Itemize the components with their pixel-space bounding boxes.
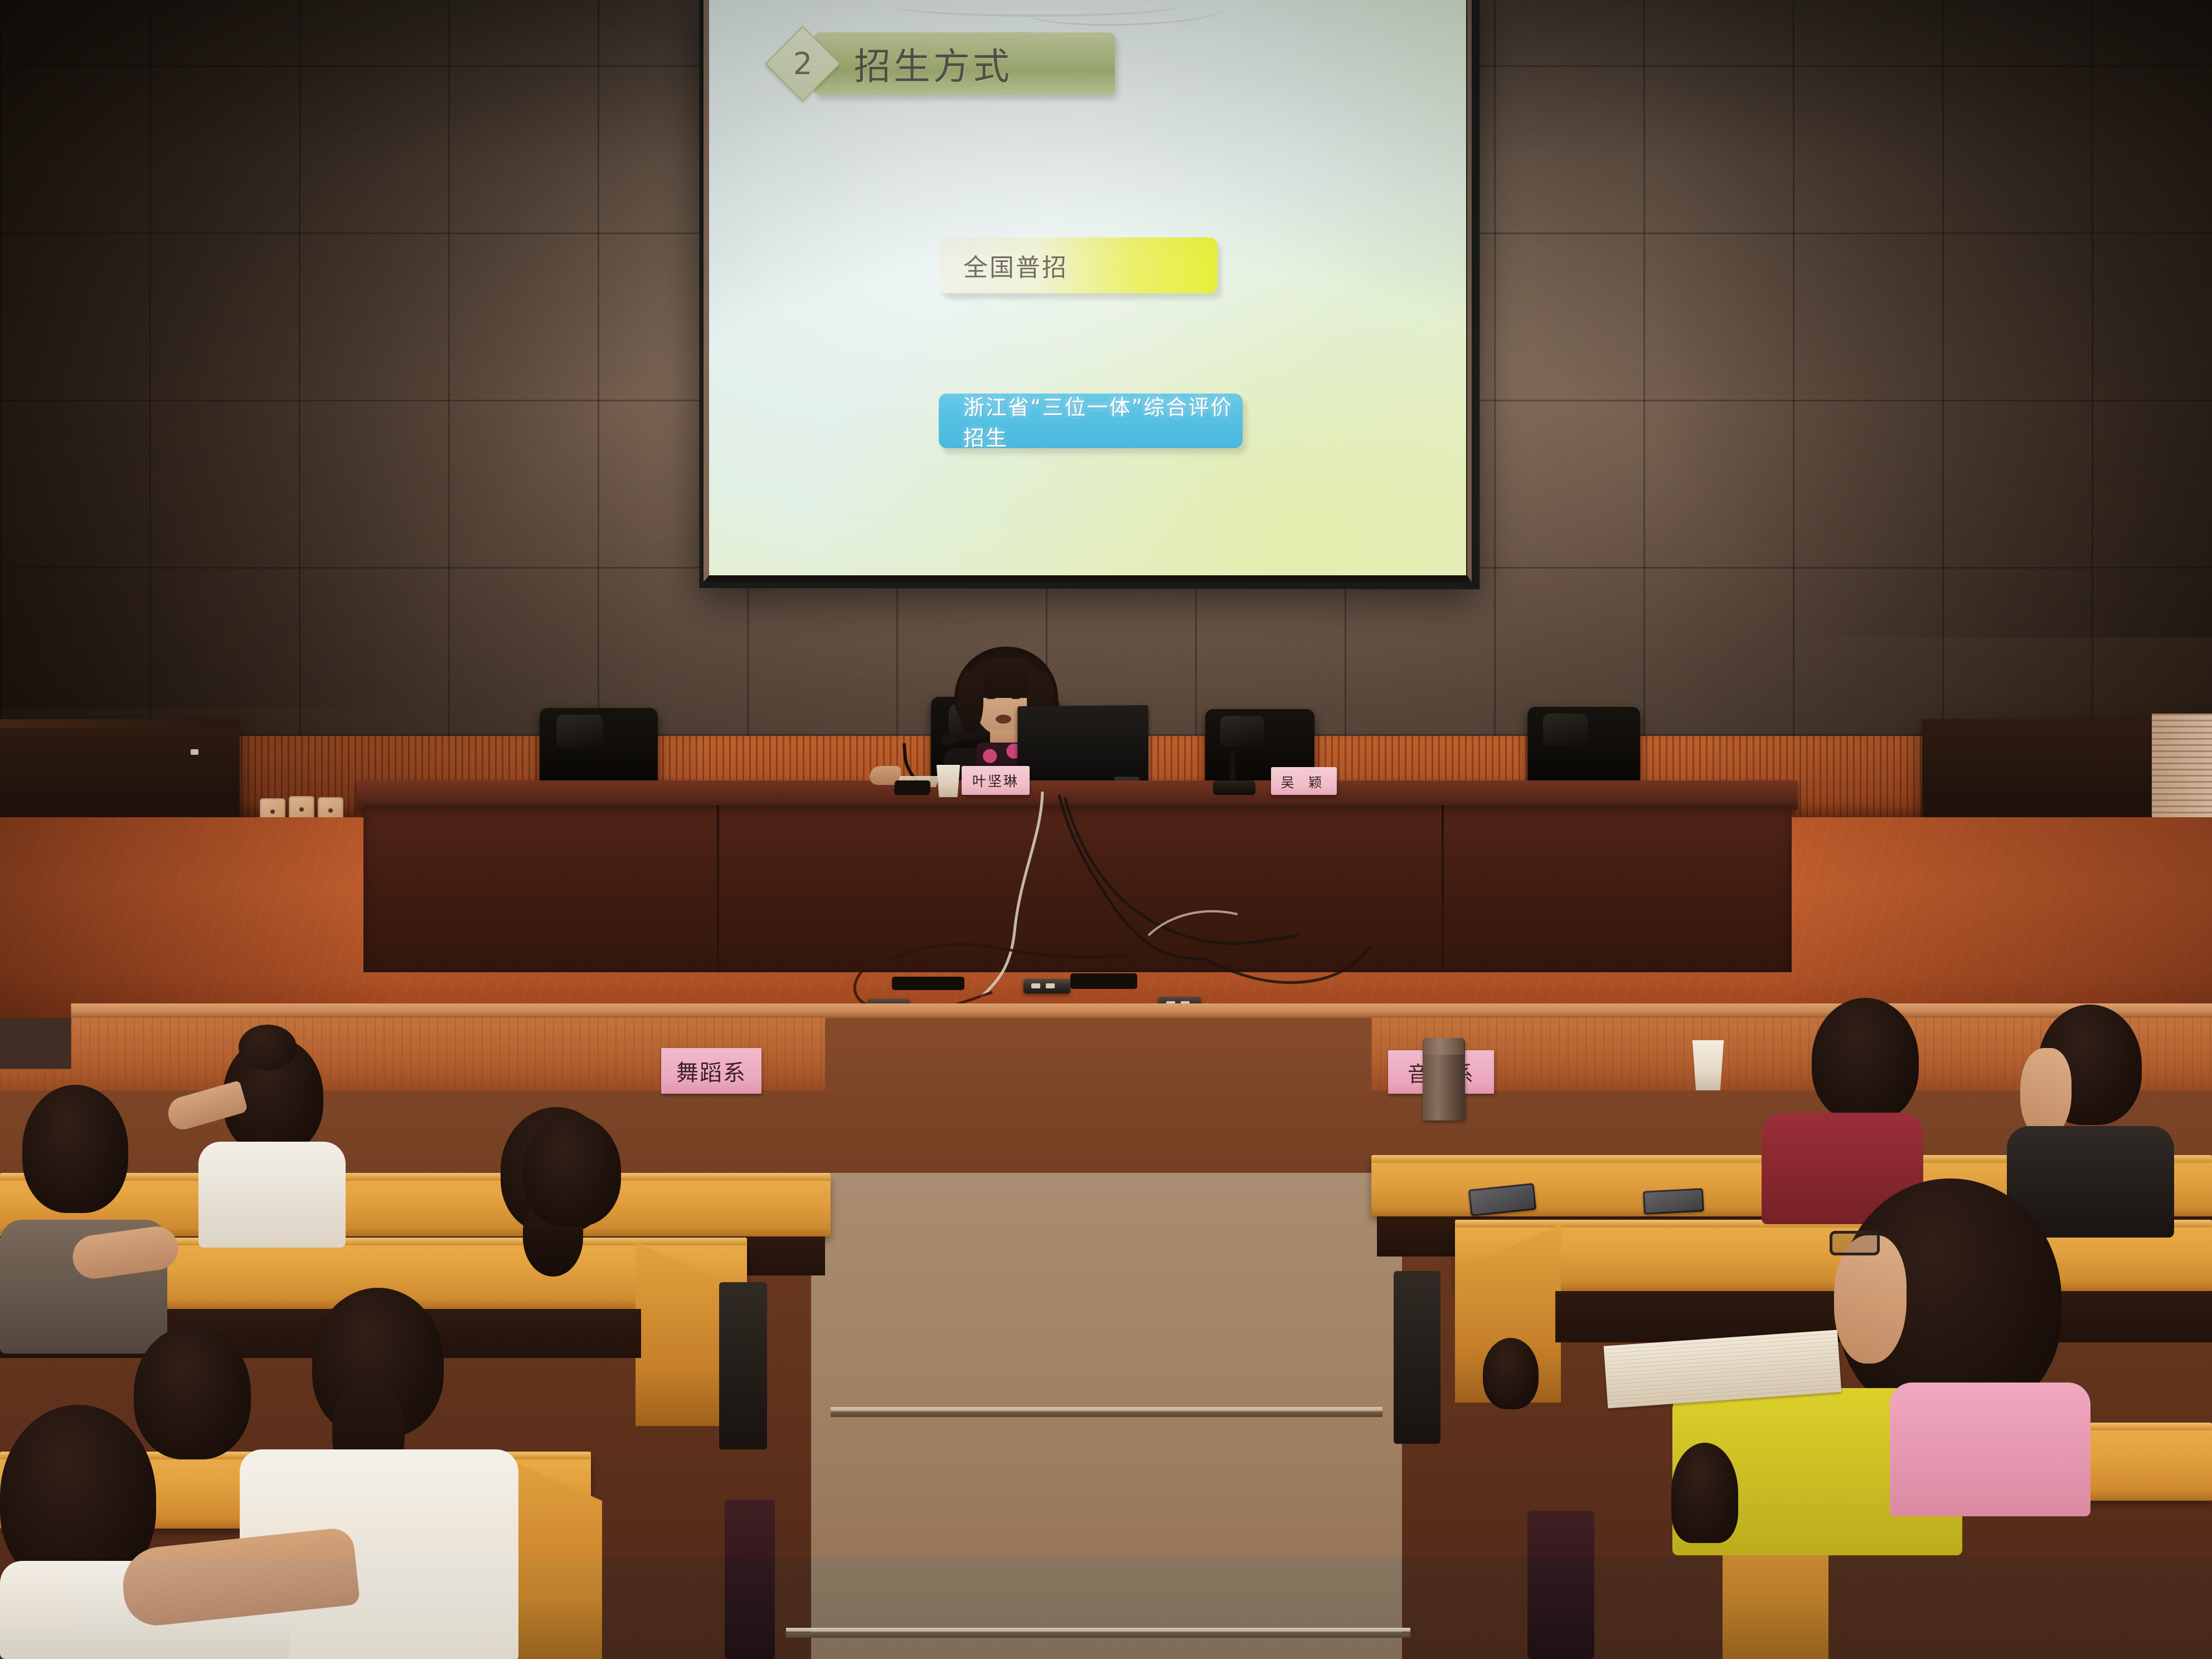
aisle-step-edge-2 (786, 1632, 1410, 1638)
audience-paper-cup (1690, 1040, 1726, 1090)
glasses-icon (1830, 1231, 1880, 1255)
table-panel-seam-1 (717, 805, 719, 972)
speaker-hair-left (959, 671, 983, 733)
student-body-l1 (198, 1142, 346, 1248)
aisle-step-nosing-2 (786, 1628, 1410, 1632)
student-body-r4b (1890, 1382, 2090, 1516)
student-head-l7 (134, 1326, 251, 1459)
nameplate-speaker: 叶坚琳 (962, 766, 1030, 795)
stage-chair-3[interactable] (1527, 707, 1640, 792)
cabinet-indicator-left (191, 749, 198, 755)
floor-adapter-1 (892, 977, 964, 990)
student-head-l5 (523, 1115, 621, 1226)
thermos-flask (1423, 1038, 1465, 1120)
nameplate-second: 吴 颖 (1271, 767, 1337, 795)
aisle-step-nosing-1 (831, 1407, 1382, 1411)
speaker-mouth (996, 715, 1011, 724)
aisle-seat-left-2[interactable] (725, 1500, 775, 1659)
cabinet-left-top (0, 719, 240, 728)
projection-screen-bezel (704, 0, 1472, 582)
student-head-r6 (1483, 1338, 1539, 1409)
aisle-seat-right-1[interactable] (1394, 1271, 1440, 1444)
student-ponytail-r1 (1555, 1081, 1611, 1156)
smartphone-2[interactable] (1643, 1188, 1704, 1215)
microphone-stem-right[interactable] (1230, 751, 1235, 784)
department-sign-dance: 舞蹈系 (661, 1048, 761, 1094)
aisle-step-edge-1 (831, 1411, 1382, 1417)
stage-cables (780, 792, 1561, 1026)
student-face-r3 (2020, 1048, 2072, 1137)
student-bun-l1 (239, 1025, 297, 1070)
student-head-r5 (1671, 1443, 1738, 1543)
thermos-cap (1424, 1038, 1464, 1055)
laptop-screen[interactable] (1017, 705, 1148, 791)
wall-shadow-left (0, 0, 669, 736)
lecture-hall-photo: 2 招生方式 全国普招 浙江省“三位一体”综合评价招生 (0, 0, 2212, 1659)
floor-adapter-2 (1070, 973, 1137, 989)
student-head-l3 (22, 1085, 128, 1213)
power-strip-3[interactable] (1023, 979, 1070, 993)
aisle-seat-left-1[interactable] (719, 1282, 767, 1449)
wall-shadow-right (1655, 0, 2212, 736)
student-head-r2 (1812, 998, 1919, 1122)
aisle-seat-right-2[interactable] (1527, 1511, 1594, 1659)
